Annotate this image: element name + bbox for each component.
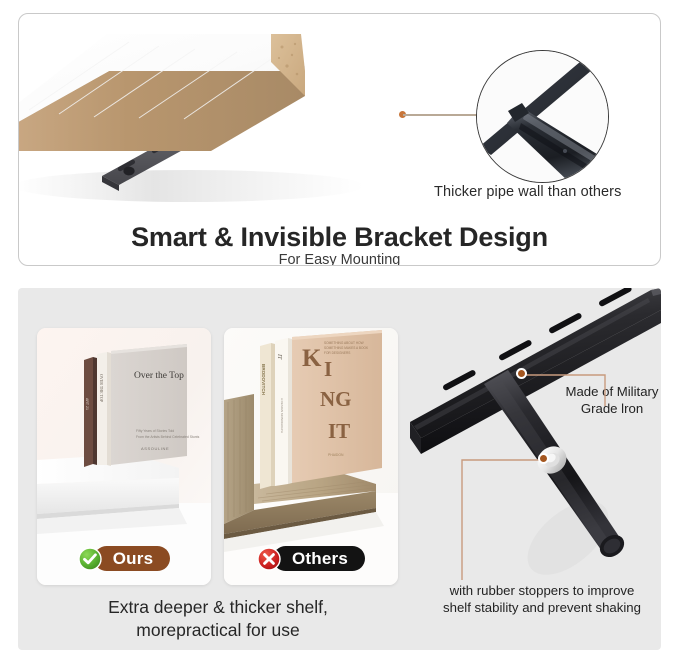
rubber-leader-line <box>450 458 546 583</box>
svg-text:IT: IT <box>276 353 282 360</box>
svg-text:Over the Top: Over the Top <box>134 371 184 381</box>
svg-text:K: K <box>302 345 322 372</box>
pipe-wall-caption: Thicker pipe wall than others <box>434 184 661 200</box>
svg-text:SOMETHING MAKES A BOOK: SOMETHING MAKES A BOOK <box>324 346 369 350</box>
green-check-circle-icon <box>78 547 102 571</box>
svg-text:From the Artists Behind Celebr: From the Artists Behind Celebrated Stunt… <box>136 435 200 439</box>
svg-text:ASSOULINE: ASSOULINE <box>141 446 169 451</box>
svg-text:BRODOVITCH: BRODOVITCH <box>261 364 266 396</box>
ours-badge-label: Ours <box>94 546 170 571</box>
ours-badge: Ours <box>37 546 211 571</box>
comparison-caption-line1: Extra deeper & thicker shelf, <box>28 596 408 619</box>
comparison-panel: ART 21 OVER THE TOP Over the Top Fifty Y… <box>18 288 661 650</box>
svg-text:IT: IT <box>328 419 350 443</box>
rubber-stopper-callout: with rubber stoppers to improve shelf st… <box>418 583 661 617</box>
others-photo-card: BRODOVITCH IT A DESIGN MONOGRAPH K I NG <box>224 328 398 585</box>
red-cross-circle-icon <box>257 547 281 571</box>
svg-text:A DESIGN MONOGRAPH: A DESIGN MONOGRAPH <box>280 398 284 433</box>
svg-text:ART 21: ART 21 <box>85 398 89 410</box>
iron-marker-dot <box>516 368 527 379</box>
page-subtitle: For Easy Mounting <box>19 252 660 266</box>
rubber-callout-line2: shelf stability and prevent shaking <box>418 600 661 617</box>
comparison-caption: Extra deeper & thicker shelf, morepracti… <box>28 596 408 642</box>
svg-text:Fifty Years of Stories Told: Fifty Years of Stories Told <box>136 429 174 433</box>
svg-text:OVER THE TOP: OVER THE TOP <box>99 374 104 403</box>
pipe-wall-magnifier-circle <box>476 50 609 183</box>
svg-text:NG: NG <box>320 387 352 411</box>
svg-text:SOMETHING ABOUT HOW: SOMETHING ABOUT HOW <box>324 341 364 345</box>
iron-leader-line <box>520 372 612 408</box>
svg-text:I: I <box>324 357 332 381</box>
rubber-stopper-marker-dot <box>538 453 549 464</box>
page-title: Smart & Invisible Bracket Design <box>19 222 660 253</box>
svg-text:FOR DESIGNERS: FOR DESIGNERS <box>324 351 350 355</box>
svg-text:PHAIDON: PHAIDON <box>328 453 344 457</box>
floating-shelf-illustration <box>18 14 439 219</box>
others-badge-label: Others <box>273 546 365 571</box>
magnifier-connector-line <box>403 114 481 116</box>
rubber-callout-line1: with rubber stoppers to improve <box>418 583 661 600</box>
smart-bracket-design-panel: Thicker pipe wall than others Smart & In… <box>18 13 661 266</box>
bracket-showcase: Made of Military Grade lron with rubber … <box>408 288 661 650</box>
others-badge: Others <box>224 546 398 571</box>
ours-photo-card: ART 21 OVER THE TOP Over the Top Fifty Y… <box>37 328 211 585</box>
comparison-caption-line2: morepractical for use <box>28 619 408 642</box>
